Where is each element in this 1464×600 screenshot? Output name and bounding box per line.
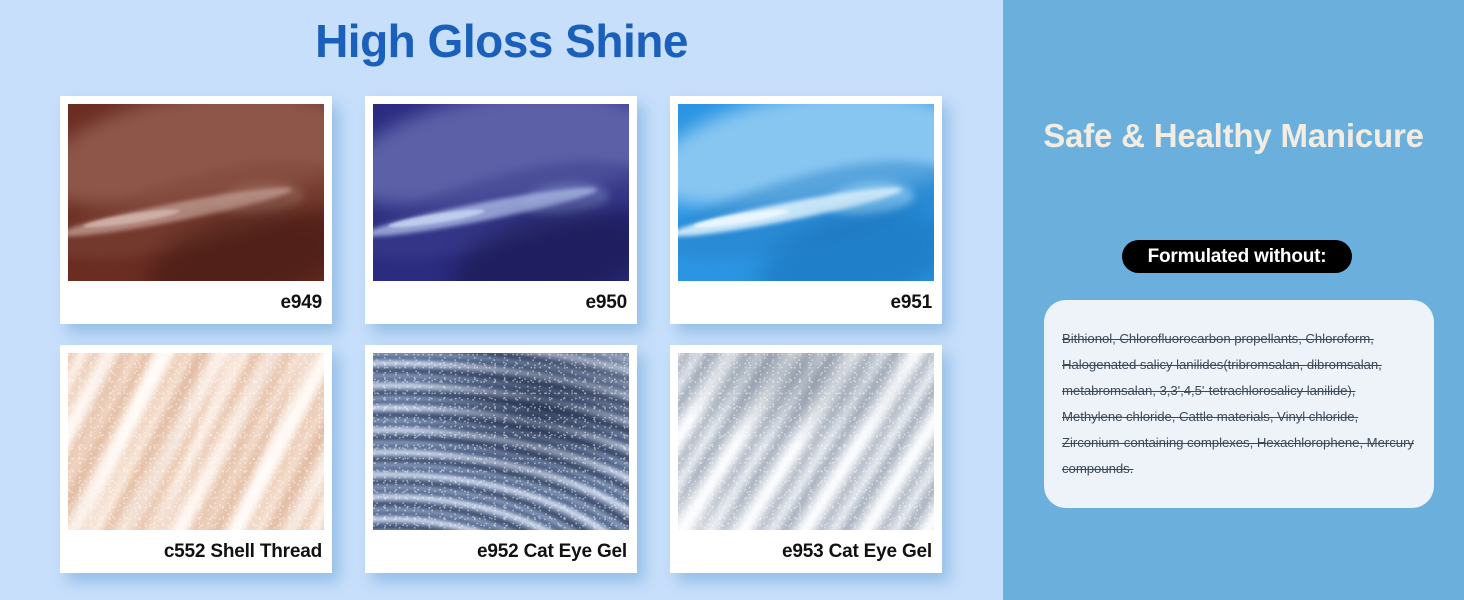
product-label: e951: [678, 281, 934, 324]
shimmer-silver-swatch: [678, 353, 934, 530]
product-label: c552 Shell Thread: [68, 530, 324, 573]
safety-info-panel: Safe & Healthy Manicure Formulated witho…: [1003, 0, 1464, 600]
product-swatch-grid: e949 e950: [60, 96, 950, 573]
product-card[interactable]: e952 Cat Eye Gel: [365, 345, 637, 573]
product-banner: High Gloss Shine e949: [0, 0, 1464, 600]
product-label: e952 Cat Eye Gel: [373, 530, 629, 573]
shimmer-peach-swatch: [68, 353, 324, 530]
product-label: e949: [68, 281, 324, 324]
product-label: e953 Cat Eye Gel: [678, 530, 934, 573]
cat-eye-navy-swatch: [373, 353, 629, 530]
excluded-ingredients-box: Bithionol, Chlorofluorocarbon propellant…: [1044, 300, 1434, 508]
formulated-without-badge: Formulated without:: [1122, 240, 1352, 273]
safety-heading: Safe & Healthy Manicure: [1033, 112, 1434, 160]
glossy-azure-swatch: [678, 104, 934, 281]
product-card[interactable]: c552 Shell Thread: [60, 345, 332, 573]
product-card[interactable]: e951: [670, 96, 942, 324]
product-card[interactable]: e949: [60, 96, 332, 324]
product-card[interactable]: e950: [365, 96, 637, 324]
glossy-indigo-swatch: [373, 104, 629, 281]
product-label: e950: [373, 281, 629, 324]
page-title: High Gloss Shine: [0, 14, 1003, 68]
gloss-showcase-panel: High Gloss Shine e949: [0, 0, 1003, 600]
product-card[interactable]: e953 Cat Eye Gel: [670, 345, 942, 573]
glossy-brown-swatch: [68, 104, 324, 281]
excluded-ingredients-list: Bithionol, Chlorofluorocarbon propellant…: [1062, 326, 1416, 482]
